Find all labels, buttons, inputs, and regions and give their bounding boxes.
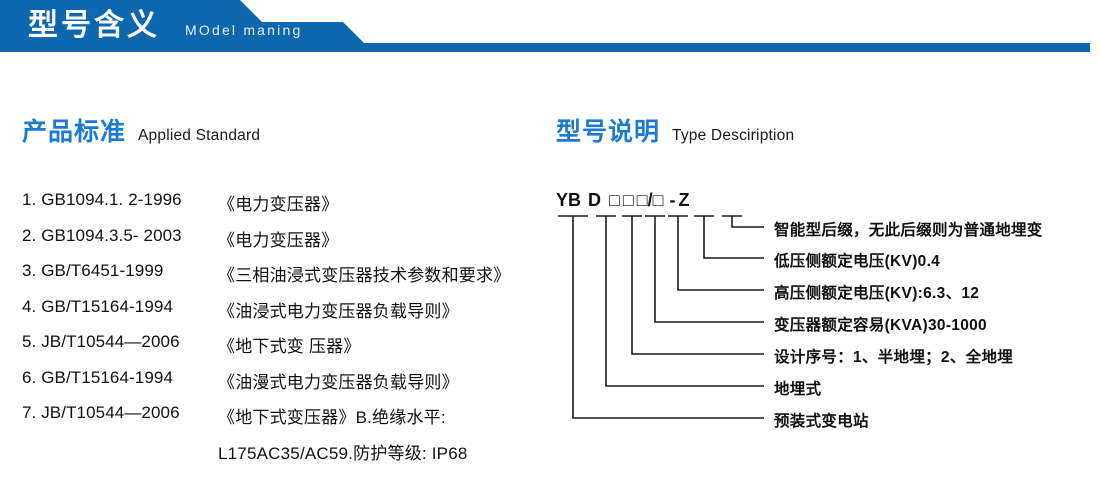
- standard-title: 《地下式变 压器》: [218, 332, 361, 357]
- banner-shape: [0, 0, 1100, 58]
- section-heading-cn: 型号说明: [556, 118, 660, 146]
- banner-subtitle: MOdel maning: [185, 22, 302, 38]
- list-item: 6. GB/T15164-1994 《油漫式电力变压器负载导则》: [22, 368, 552, 404]
- list-item: 3. GB/T6451-1999 《三相油浸式变压器技术参数和要求》: [22, 261, 552, 297]
- section-heading-en: Type Desciription: [672, 127, 794, 144]
- section-heading-en: Applied Standard: [138, 127, 260, 144]
- standard-title: 《电力变压器》: [218, 190, 338, 215]
- list-item: 7. JB/T10544—2006 《地下式变压器》B.绝缘水平:: [22, 403, 552, 439]
- standard-code: 3. GB/T6451-1999: [22, 261, 218, 281]
- callout-label-design-serial: 设计序号：1、半地埋；2、全地埋: [774, 345, 1013, 367]
- list-item: 5. JB/T10544—2006 《地下式变 压器》: [22, 332, 552, 368]
- standard-title: 《电力变压器》: [218, 226, 338, 251]
- list-item: 4. GB/T15164-1994 《油浸式电力变压器负载导则》: [22, 297, 552, 333]
- applied-standards-list: 1. GB1094.1. 2-1996 《电力变压器》 2. GB1094.3.…: [22, 190, 552, 474]
- callout-label-prefab-substation: 预装式变电站: [774, 409, 869, 431]
- section-heading-applied-standard: 产品标准Applied Standard: [22, 112, 260, 148]
- standard-code: 6. GB/T15164-1994: [22, 368, 218, 388]
- standard-title: 《油漫式电力变压器负载导则》: [218, 368, 459, 393]
- section-heading-type-description: 型号说明Type Desciription: [556, 112, 794, 148]
- standard-code: 7. JB/T10544—2006: [22, 403, 218, 423]
- callout-label-hv-rated-voltage: 高压侧额定电压(KV):6.3、12: [774, 281, 979, 303]
- banner-title: 型号含义: [28, 7, 160, 45]
- standard-title-continued: L175AC35/AC59.防护等级: IP68: [218, 439, 468, 464]
- standard-code: 1. GB1094.1. 2-1996: [22, 190, 218, 210]
- standard-code: 2. GB1094.3.5- 2003: [22, 226, 218, 246]
- standard-title: 《三相油浸式变压器技术参数和要求》: [218, 261, 510, 286]
- standard-code: 5. JB/T10544—2006: [22, 332, 218, 352]
- callout-label-rated-capacity: 变压器额定容易(KVA)30-1000: [774, 313, 987, 335]
- standard-title: 《地下式变压器》B.绝缘水平:: [218, 403, 446, 428]
- page-header-banner: 型号含义 MOdel maning: [0, 0, 1100, 58]
- model-code-diagram: YBD□□□/□-Z 智能型后: [556, 190, 1076, 440]
- callout-label-lv-rated-voltage: 低压侧额定电压(KV)0.4: [774, 249, 940, 271]
- callout-label-smart-suffix: 智能型后缀，无此后缀则为普通地埋变: [774, 218, 1043, 240]
- list-item: 1. GB1094.1. 2-1996 《电力变压器》: [22, 190, 552, 226]
- standard-title: 《油浸式电力变压器负载导则》: [218, 297, 459, 322]
- standard-code: 4. GB/T15164-1994: [22, 297, 218, 317]
- list-item-continuation: L175AC35/AC59.防护等级: IP68: [22, 439, 552, 475]
- section-heading-cn: 产品标准: [22, 118, 126, 146]
- callout-label-buried-type: 地埋式: [774, 377, 821, 399]
- list-item: 2. GB1094.3.5- 2003 《电力变压器》: [22, 226, 552, 262]
